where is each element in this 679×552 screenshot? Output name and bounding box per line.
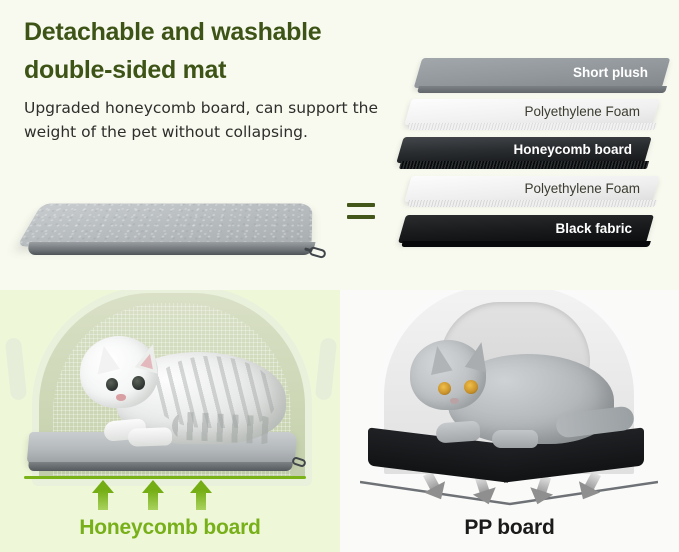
layer-label: Black fabric [555, 215, 632, 243]
up-arrow-icon [142, 480, 164, 508]
headline: Detachable and washable double-sided mat [24, 14, 414, 88]
cat-eye-right [132, 376, 145, 390]
zipper-pull-icon [308, 246, 327, 259]
comparison-panel-pp-board: PP board [340, 290, 679, 552]
equals-sign-icon [347, 203, 375, 227]
mat-plush-texture [17, 203, 312, 246]
mat-side-edge [26, 242, 315, 255]
layer-label: Polyethylene Foam [524, 176, 640, 202]
gray-cat-photo [396, 318, 626, 454]
sagging-support-line [360, 478, 658, 510]
headline-line-2: double-sided mat [24, 52, 226, 88]
up-arrow-icon [92, 480, 114, 508]
cat-head [410, 340, 486, 410]
top-section: Detachable and washable double-sided mat… [0, 0, 679, 290]
product-infographic: Detachable and washable double-sided mat… [0, 0, 679, 552]
carrier-handle-left [5, 337, 27, 400]
cat-tail [171, 411, 276, 444]
cat-nose [116, 394, 126, 401]
carrier-handle-right [315, 337, 337, 400]
comparison-section: Honeycomb board [0, 290, 679, 552]
product-mat-image [18, 192, 328, 272]
body-copy: Upgraded honeycomb board, can support th… [24, 96, 404, 144]
cat-paw-front-left [435, 420, 480, 443]
layer-stack-diagram: Short plush Polyethylene Foam Honeycomb … [398, 58, 666, 276]
cat-eye-left [106, 378, 118, 391]
cat-eye-right [464, 380, 478, 394]
cat-nose [450, 398, 459, 404]
layer-label: Polyethylene Foam [524, 99, 640, 125]
cat-paw-front-right [492, 430, 538, 448]
layer-label: Honeycomb board [513, 137, 632, 163]
cat-paw-front-right [128, 427, 173, 447]
caption-pp-board: PP board [340, 516, 679, 540]
headline-line-1: Detachable and washable [24, 14, 321, 50]
comparison-panel-honeycomb: Honeycomb board [0, 290, 340, 552]
cat-head [80, 336, 158, 408]
cat-ear-left [425, 344, 452, 375]
layer-label: Short plush [573, 58, 648, 88]
cat-eye-left [438, 382, 451, 395]
flat-support-line [24, 476, 306, 479]
caption-honeycomb-board: Honeycomb board [0, 516, 340, 540]
cat-ear-left [91, 344, 120, 375]
white-cat-photo [68, 314, 288, 454]
up-arrow-icon [190, 480, 212, 508]
